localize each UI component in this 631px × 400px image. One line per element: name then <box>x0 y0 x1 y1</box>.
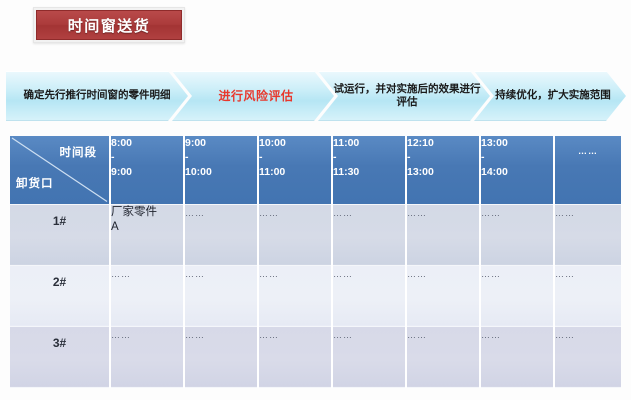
cell-r2c6[interactable]: …… <box>480 265 554 326</box>
slot-1-end: 9:00 <box>111 165 183 179</box>
flow-step-2-label: 进行风险评估 <box>218 89 293 104</box>
corner-label-dock: 卸货口 <box>16 175 54 191</box>
cell-r2c6-value: …… <box>481 266 553 279</box>
cell-r1c2[interactable]: …… <box>184 204 258 265</box>
corner-label-timeslot: 时间段 <box>60 144 98 160</box>
cell-r1c1[interactable]: 厂家零件A <box>110 204 184 265</box>
cell-r2c5[interactable]: …… <box>406 265 480 326</box>
column-header-slot-4: 11:00 - 11:30 <box>332 136 406 204</box>
slot-4-sep: - <box>333 150 405 164</box>
column-header-slot-1: 8:00 - 9:00 <box>110 136 184 204</box>
cell-r1c7-value: …… <box>555 205 621 218</box>
slot-4-end: 11:30 <box>333 165 405 179</box>
cell-r2c1[interactable]: …… <box>110 265 184 326</box>
cell-r2c7[interactable]: …… <box>554 265 621 326</box>
row-header-dock-3: 3# <box>10 326 110 387</box>
cell-r2c4-value: …… <box>333 266 405 279</box>
slot-6-sep: - <box>481 150 553 164</box>
cell-r3c7[interactable]: …… <box>554 326 621 387</box>
column-header-slot-3: 10:00 - 11:00 <box>258 136 332 204</box>
flow-step-1-label: 确定先行推行时间窗的零件明细 <box>24 89 171 102</box>
cell-r1c6-value: …… <box>481 205 553 218</box>
column-header-more-label: …… <box>578 146 598 156</box>
table-corner-cell: 时间段 卸货口 <box>10 136 110 204</box>
slot-2-end: 10:00 <box>185 165 257 179</box>
slot-1-sep: - <box>111 150 183 164</box>
slot-3-end: 11:00 <box>259 165 331 179</box>
slot-5-start: 12:10 <box>407 136 479 150</box>
slot-6-end: 14:00 <box>481 165 553 179</box>
table-header-row: 时间段 卸货口 8:00 - 9:00 9:00 - 10:00 10:00 -… <box>10 136 621 204</box>
cell-r2c1-value: …… <box>111 266 183 279</box>
slot-5-end: 13:00 <box>407 165 479 179</box>
cell-r1c5[interactable]: …… <box>406 204 480 265</box>
cell-r3c5[interactable]: …… <box>406 326 480 387</box>
cell-r2c2[interactable]: …… <box>184 265 258 326</box>
cell-r1c3-value: …… <box>259 205 331 218</box>
slot-3-sep: - <box>259 150 331 164</box>
cell-r2c3[interactable]: …… <box>258 265 332 326</box>
cell-r3c3-value: …… <box>259 327 331 340</box>
cell-r3c1-value: …… <box>111 327 183 340</box>
flow-step-3-label: 试运行，并对实施后的效果进行评估 <box>332 83 482 109</box>
flow-step-4[interactable]: 持续优化，扩大实施范围 <box>474 71 626 121</box>
cell-r3c3[interactable]: …… <box>258 326 332 387</box>
cell-r1c6[interactable]: …… <box>480 204 554 265</box>
table-body: 1# 厂家零件A …… …… …… …… …… …… 2# …… …… …… …… <box>10 204 621 388</box>
cell-r3c1[interactable]: …… <box>110 326 184 387</box>
table-row: 3# …… …… …… …… …… …… …… <box>10 326 621 387</box>
cell-r2c2-value: …… <box>185 266 257 279</box>
flow-step-4-label: 持续优化，扩大实施范围 <box>495 89 611 102</box>
cell-r1c4[interactable]: …… <box>332 204 406 265</box>
flow-step-2[interactable]: 进行风险评估 <box>172 71 334 121</box>
cell-r3c6[interactable]: …… <box>480 326 554 387</box>
cell-r1c2-value: …… <box>185 205 257 218</box>
row-header-dock-2: 2# <box>10 265 110 326</box>
flow-step-1[interactable]: 确定先行推行时间窗的零件明细 <box>6 71 188 121</box>
cell-r3c4[interactable]: …… <box>332 326 406 387</box>
slot-1-start: 8:00 <box>111 136 183 150</box>
cell-r3c4-value: …… <box>333 327 405 340</box>
table-row: 2# …… …… …… …… …… …… …… <box>10 265 621 326</box>
cell-r3c2-value: …… <box>185 327 257 340</box>
cell-r1c3[interactable]: …… <box>258 204 332 265</box>
row-header-dock-1: 1# <box>10 204 110 265</box>
cell-r2c7-value: …… <box>555 266 621 279</box>
slide-root: 时间窗送货 确定先行推行时间窗的零件明细 进行风险评估 试运行，并对实施后的效果… <box>0 0 631 400</box>
process-flow: 确定先行推行时间窗的零件明细 进行风险评估 试运行，并对实施后的效果进行评估 持… <box>6 71 626 121</box>
slot-4-start: 11:00 <box>333 136 405 150</box>
cell-r3c5-value: …… <box>407 327 479 340</box>
cell-r1c4-value: …… <box>333 205 405 218</box>
title-banner-fill: 时间窗送货 <box>36 10 182 40</box>
cell-r1c1-value: 厂家零件A <box>111 205 157 236</box>
slot-6-start: 13:00 <box>481 136 553 150</box>
slot-3-start: 10:00 <box>259 136 331 150</box>
cell-r2c3-value: …… <box>259 266 331 279</box>
cell-r3c2[interactable]: …… <box>184 326 258 387</box>
slot-2-sep: - <box>185 150 257 164</box>
slot-2-start: 9:00 <box>185 136 257 150</box>
cell-r2c5-value: …… <box>407 266 479 279</box>
table-row: 1# 厂家零件A …… …… …… …… …… …… <box>10 204 621 265</box>
table-header: 时间段 卸货口 8:00 - 9:00 9:00 - 10:00 10:00 -… <box>10 136 621 204</box>
column-header-slot-5: 12:10 - 13:00 <box>406 136 480 204</box>
column-header-slot-6: 13:00 - 14:00 <box>480 136 554 204</box>
cell-r3c6-value: …… <box>481 327 553 340</box>
cell-r2c4[interactable]: …… <box>332 265 406 326</box>
page-title: 时间窗送货 <box>68 15 151 36</box>
cell-r1c5-value: …… <box>407 205 479 218</box>
cell-r3c7-value: …… <box>555 327 621 340</box>
column-header-slot-2: 9:00 - 10:00 <box>184 136 258 204</box>
column-header-more: …… <box>554 136 621 204</box>
cell-r1c7[interactable]: …… <box>554 204 621 265</box>
flow-step-3[interactable]: 试运行，并对实施后的效果进行评估 <box>318 71 490 121</box>
title-banner: 时间窗送货 <box>33 7 185 43</box>
slot-5-sep: - <box>407 150 479 164</box>
delivery-schedule-table: 时间段 卸货口 8:00 - 9:00 9:00 - 10:00 10:00 -… <box>10 136 621 388</box>
